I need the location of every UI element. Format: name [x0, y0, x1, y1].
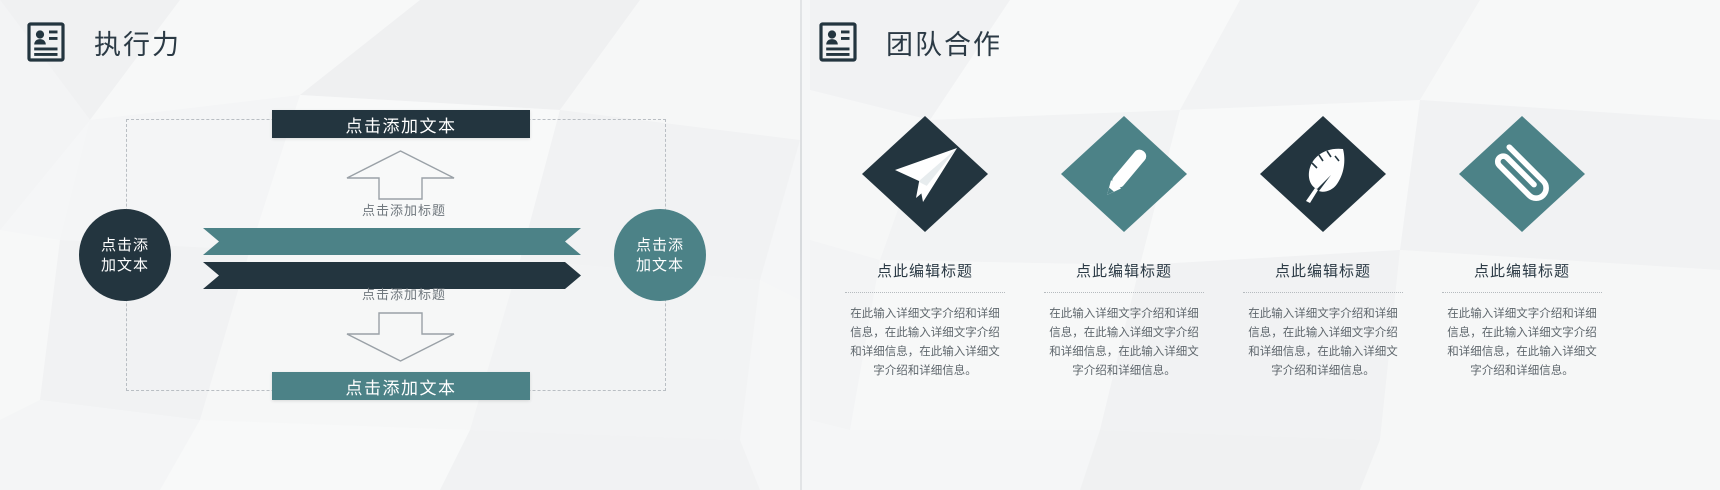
bottom-bar-button[interactable]: 点击添加文本: [272, 372, 530, 400]
diamond-tile[interactable]: [1424, 110, 1620, 238]
card-title: 点此编辑标题: [1424, 260, 1620, 281]
card-body: 在此输入详细文字介绍和详细信息，在此输入详细文字介绍和详细信息，在此输入详细文字…: [1246, 304, 1400, 380]
card-title: 点此编辑标题: [827, 260, 1023, 281]
feature-card[interactable]: 点此编辑标题 在此输入详细文字介绍和详细信息，在此输入详细文字介绍和详细信息，在…: [1026, 110, 1222, 380]
card-divider: [1243, 292, 1403, 293]
left-circle-button[interactable]: 点击添 加文本: [79, 209, 171, 301]
page-title: 团队合作: [886, 23, 1002, 62]
up-arrow-outline-icon: [343, 148, 458, 200]
top-bar-button[interactable]: 点击添加文本: [272, 110, 530, 138]
down-arrow-outline-icon: [343, 312, 458, 364]
up-arrow-label: 点击添加标题: [362, 200, 446, 219]
card-body: 在此输入详细文字介绍和详细信息，在此输入详细文字介绍和详细信息，在此输入详细文字…: [1047, 304, 1201, 380]
feature-card[interactable]: 点此编辑标题 在此输入详细文字介绍和详细信息，在此输入详细文字介绍和详细信息，在…: [827, 110, 1023, 380]
teal-arrow-band[interactable]: [203, 228, 581, 255]
top-bar-label: 点击添加文本: [346, 112, 457, 137]
diamond-tile[interactable]: [827, 110, 1023, 238]
right-circle-line1: 点击添: [636, 235, 684, 255]
card-divider: [845, 292, 1005, 293]
contact-card-icon: [818, 22, 858, 62]
card-title: 点此编辑标题: [1225, 260, 1421, 281]
card-divider: [1044, 292, 1204, 293]
contact-card-icon: [26, 22, 66, 62]
left-panel-header: 执行力: [26, 22, 181, 62]
slide-canvas: 执行力 点击添加文本 点击添加文本 点击添 加文本 点击添 加文本 点击添加标题…: [0, 0, 1720, 490]
right-circle-line2: 加文本: [636, 255, 684, 275]
card-title: 点此编辑标题: [1026, 260, 1222, 281]
feature-card[interactable]: 点此编辑标题 在此输入详细文字介绍和详细信息，在此输入详细文字介绍和详细信息，在…: [1424, 110, 1620, 380]
left-circle-line2: 加文本: [101, 255, 149, 275]
bottom-bar-label: 点击添加文本: [346, 374, 457, 399]
left-circle-line1: 点击添: [101, 235, 149, 255]
feature-card[interactable]: 点此编辑标题 在此输入详细文字介绍和详细信息，在此输入详细文字介绍和详细信息，在…: [1225, 110, 1421, 380]
right-panel-header: 团队合作: [818, 22, 1002, 62]
right-circle-button[interactable]: 点击添 加文本: [614, 209, 706, 301]
card-divider: [1442, 292, 1602, 293]
diamond-tile[interactable]: [1026, 110, 1222, 238]
card-body: 在此输入详细文字介绍和详细信息，在此输入详细文字介绍和详细信息，在此输入详细文字…: [848, 304, 1002, 380]
down-arrow-label: 点击添加标题: [362, 284, 446, 303]
card-body: 在此输入详细文字介绍和详细信息，在此输入详细文字介绍和详细信息，在此输入详细文字…: [1445, 304, 1599, 380]
page-title: 执行力: [94, 23, 181, 62]
panel-divider: [800, 0, 802, 490]
diamond-tile[interactable]: [1225, 110, 1421, 238]
